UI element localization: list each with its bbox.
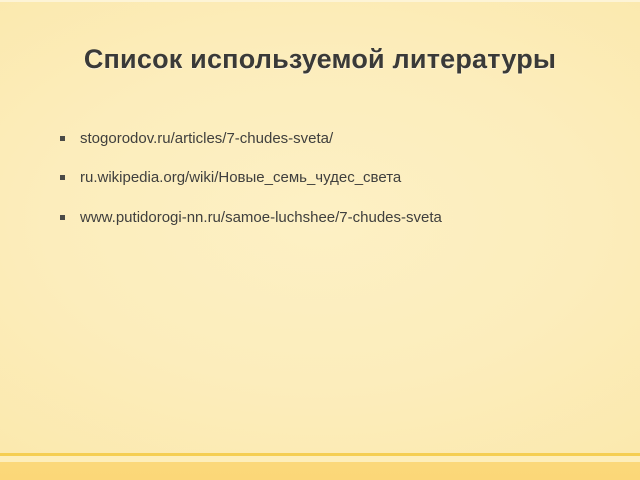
square-bullet-icon xyxy=(60,136,65,141)
list-item: ru.wikipedia.org/wiki/Новые_семь_чудес_с… xyxy=(59,169,600,186)
square-bullet-icon xyxy=(60,175,65,180)
footer-decoration-band xyxy=(0,453,640,480)
content-placeholder: stogorodov.ru/articles/7-chudes-sveta/ r… xyxy=(0,130,640,226)
slide-title: Список используемой литературы xyxy=(0,44,640,76)
reference-list: stogorodov.ru/articles/7-chudes-sveta/ r… xyxy=(0,130,640,226)
list-item-text: www.putidorogi-nn.ru/samoe-luchshee/7-ch… xyxy=(80,209,442,226)
list-item-text: stogorodov.ru/articles/7-chudes-sveta/ xyxy=(80,130,333,147)
slide-canvas: Список используемой литературы stogorodo… xyxy=(0,0,640,480)
footer-accent-fill xyxy=(0,462,640,480)
list-item-text: ru.wikipedia.org/wiki/Новые_семь_чудес_с… xyxy=(80,169,401,186)
title-placeholder: Список используемой литературы xyxy=(0,44,640,76)
list-item: www.putidorogi-nn.ru/samoe-luchshee/7-ch… xyxy=(59,209,600,226)
list-item: stogorodov.ru/articles/7-chudes-sveta/ xyxy=(59,130,600,147)
square-bullet-icon xyxy=(60,215,65,220)
top-edge-highlight xyxy=(0,0,640,2)
